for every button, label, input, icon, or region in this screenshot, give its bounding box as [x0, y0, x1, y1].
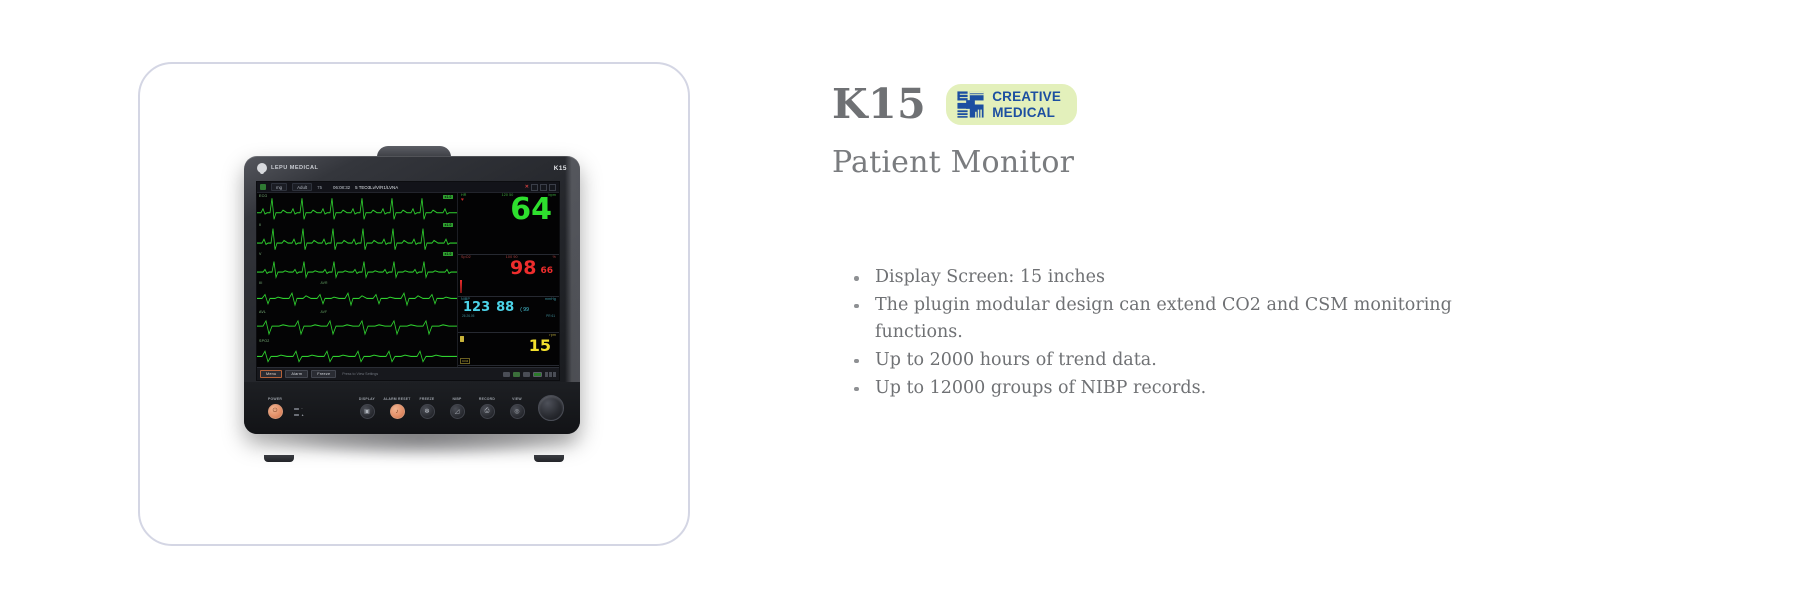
control-label: RECORD	[479, 397, 495, 401]
device-model-label: K15	[554, 165, 567, 172]
waveform-label: AVL	[259, 310, 266, 314]
ecg-trace-3	[257, 251, 457, 280]
control-label: POWER	[268, 397, 282, 401]
topbar-window-controls[interactable]: ✕	[525, 184, 556, 191]
control-label: FREEZE	[420, 397, 435, 401]
navigation-knob[interactable]	[538, 395, 564, 421]
topbar-time: 06:08:32	[333, 185, 350, 190]
spec-item: Display Screen: 15 inches	[852, 264, 1542, 292]
nibp-timestamp: 26 26.05	[462, 314, 474, 318]
resp-value: 15	[461, 338, 556, 353]
lepu-logo-icon	[257, 163, 267, 173]
waveform-label: II	[259, 223, 261, 227]
control-label: VIEW	[512, 397, 522, 401]
brand-badge-line1: CREATIVE	[992, 89, 1061, 104]
control-freeze[interactable]: FREEZE ❆	[412, 397, 442, 419]
device-bezel-top: LEPU MEDICAL K15	[244, 156, 580, 180]
waveform-row-ecg-3: V x1.0	[257, 251, 457, 280]
spo2-value: 98	[510, 260, 536, 277]
spo2-unit: %	[553, 256, 556, 260]
nibp-icon[interactable]: ◿	[450, 404, 465, 419]
control-label: ALARM RESET	[383, 397, 410, 401]
topbar-patient-id: 5 TEO3Lv/V/R1/LVNA	[355, 185, 398, 190]
nibp-pr: PR 61	[546, 314, 555, 318]
network-icon	[513, 372, 520, 377]
view-icon[interactable]: ◎	[510, 404, 525, 419]
device-foot-right	[534, 455, 564, 462]
topbar-center-value: 75	[317, 185, 322, 190]
waveform-tag: x1.0	[443, 195, 453, 199]
control-label: NIBP	[452, 397, 461, 401]
pulse-rate-value: 66	[540, 267, 553, 277]
ecg-trace-4	[257, 280, 457, 309]
product-detail-page: LEPU MEDICAL K15 mg Adult 75 06:08:32 5 …	[0, 0, 1800, 600]
control-alarm-reset[interactable]: ALARM RESET ♪	[382, 397, 412, 419]
topbar-chip-patient-type[interactable]: Adult	[292, 183, 312, 191]
ecg-trace-5	[257, 309, 457, 338]
ecg-trace-6	[257, 338, 457, 367]
control-record[interactable]: RECORD ⎙	[472, 397, 502, 419]
waveform-row-ecg-1: ECG x1.0	[257, 193, 457, 222]
vital-nibp-block[interactable]: NIBP mmHg 123 88 ( 99 26 26.05	[458, 297, 559, 333]
control-display[interactable]: DISPLAY ▣	[352, 397, 382, 419]
screen-menu-button[interactable]: Menu	[260, 370, 282, 378]
printer-icon	[503, 372, 510, 377]
product-subtitle: Patient Monitor	[832, 145, 1692, 180]
ecg-trace-2	[257, 222, 457, 251]
control-label: DISPLAY	[359, 397, 375, 401]
waveform-panel: ECG x1.0 II x1.0	[257, 193, 458, 367]
nibp-mean: ( 99	[520, 307, 529, 313]
screen-bottom-bar: Menu Alarm Freeze Press to View Settings	[257, 367, 559, 380]
screen-grid-icon	[545, 372, 556, 377]
brand-badge-line2: MEDICAL	[992, 105, 1055, 120]
screen-alarm-button[interactable]: Alarm	[285, 370, 308, 378]
battery-icon	[533, 372, 542, 377]
vital-hr-block[interactable]: ♥ HR 120 50 bpm 64	[458, 193, 559, 255]
waveform-row-ecg-5: AVL AVF	[257, 309, 457, 338]
vital-resp-block[interactable]: rpm 15 CO2	[458, 333, 559, 366]
waveform-label: ECG	[259, 194, 267, 198]
status-led-group: ~ ▲	[294, 407, 304, 417]
spec-item: Up to 2000 hours of trend data.	[852, 347, 1542, 375]
control-power[interactable]: POWER ⏻	[260, 397, 290, 419]
screen-hint-text: Press to View Settings	[342, 372, 378, 376]
close-icon[interactable]: ✕	[525, 184, 529, 190]
brand-badge: CREATIVE MEDICAL	[946, 84, 1077, 124]
product-spec-list: Display Screen: 15 inches The plugin mod…	[852, 264, 1692, 402]
resp-indicator-icon	[460, 336, 464, 342]
topbar-box-icon[interactable]	[540, 184, 547, 191]
screen-status-icons	[503, 372, 556, 377]
led-indicator	[294, 414, 299, 417]
waveform-tag: x1.0	[443, 223, 453, 227]
control-nibp[interactable]: NIBP ◿	[442, 397, 472, 419]
nibp-systolic: 123	[463, 301, 490, 314]
device-control-panel: POWER ⏻ ~ ▲ DISPLAY ▣ ALARM RESET ♪	[244, 382, 580, 434]
vitals-panel: ♥ HR 120 50 bpm 64	[458, 193, 559, 367]
nibp-diastolic: 88	[496, 301, 514, 314]
status-indicator-icon	[260, 184, 266, 190]
freeze-icon[interactable]: ❆	[420, 404, 435, 419]
alarm-bell-icon	[523, 372, 530, 377]
page-title: K15	[832, 84, 926, 125]
topbar-box-icon[interactable]	[531, 184, 538, 191]
vital-spo2-block[interactable]: SpO2 100 90 % 98 66	[458, 255, 559, 297]
waveform-label: SPO2	[259, 339, 269, 343]
spec-item: Up to 12000 groups of NIBP records.	[852, 375, 1542, 403]
co2-module-chip: CO2	[460, 358, 470, 364]
power-icon[interactable]: ⏻	[268, 404, 283, 419]
waveform-label: III	[259, 281, 263, 285]
record-icon[interactable]: ⎙	[480, 404, 495, 419]
lepu-brand: LEPU MEDICAL	[257, 163, 318, 173]
hr-value: 64	[461, 196, 556, 225]
product-title-row: K15	[832, 84, 1692, 125]
ecg-trace-1	[257, 193, 457, 222]
waveform-row-ecg-4: III AVR	[257, 280, 457, 309]
device-chassis: LEPU MEDICAL K15 mg Adult 75 06:08:32 5 …	[244, 156, 580, 434]
device-foot-left	[264, 455, 294, 462]
product-info-panel: K15	[832, 84, 1692, 402]
screen-main-area: ECG x1.0 II x1.0	[257, 193, 559, 367]
waveform-row-ecg-6: SPO2	[257, 338, 457, 367]
alarm-reset-icon[interactable]: ♪	[390, 404, 405, 419]
led-indicator	[294, 408, 299, 411]
control-view[interactable]: VIEW ◎	[502, 397, 532, 419]
screen-freeze-button[interactable]: Freeze	[311, 370, 336, 378]
waveform-label: V	[259, 252, 262, 256]
patient-monitor-illustration: LEPU MEDICAL K15 mg Adult 75 06:08:32 5 …	[234, 144, 594, 464]
waveform-tag: AVF	[319, 310, 329, 314]
device-feet	[234, 455, 594, 462]
nibp-unit: mmHg	[545, 298, 556, 302]
topbar-chip-unit[interactable]: mg	[271, 183, 287, 191]
brand-badge-text: CREATIVE MEDICAL	[992, 89, 1061, 119]
heart-icon: ♥	[461, 198, 466, 203]
battery-status-icon: ▲	[301, 413, 304, 417]
product-image-card: LEPU MEDICAL K15 mg Adult 75 06:08:32 5 …	[138, 62, 690, 546]
spec-item: The plugin modular design can extend CO2…	[852, 292, 1542, 347]
ac-power-icon: ~	[301, 407, 303, 411]
waveform-row-ecg-2: II x1.0	[257, 222, 457, 251]
creative-medical-logo-icon	[956, 90, 985, 119]
spo2-label: SpO2	[461, 256, 471, 260]
display-icon[interactable]: ▣	[360, 404, 375, 419]
waveform-tag: AVR	[319, 281, 329, 285]
topbar-box-icon[interactable]	[549, 184, 556, 191]
monitor-screen: mg Adult 75 06:08:32 5 TEO3Lv/V/R1/LVNA …	[256, 181, 560, 381]
lepu-brand-label: LEPU MEDICAL	[271, 165, 318, 171]
spo2-plethysmograph-bar	[460, 280, 462, 293]
waveform-tag: x1.0	[443, 252, 453, 256]
